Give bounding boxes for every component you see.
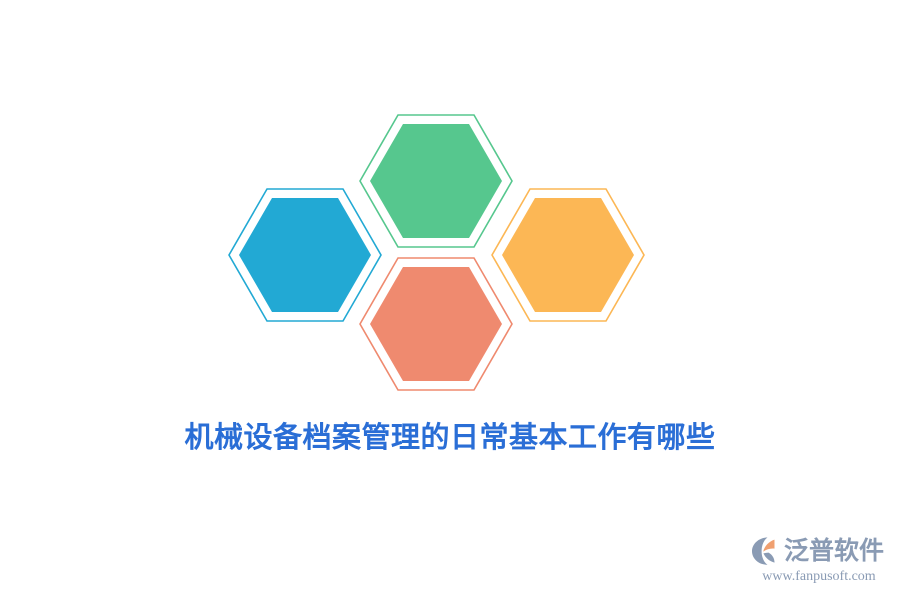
green-hexagon-fill	[370, 124, 502, 238]
salmon-hexagon	[360, 258, 512, 390]
orange-hexagon	[492, 189, 644, 321]
brand-name: 泛普软件	[784, 536, 884, 566]
brand-watermark: 泛普软件 www.fanpusoft.com	[750, 534, 886, 588]
orange-hexagon-fill	[502, 198, 634, 312]
hexagon-cluster-graphic	[0, 0, 900, 430]
page-title: 机械设备档案管理的日常基本工作有哪些	[0, 419, 900, 457]
brand-row: 泛普软件	[750, 534, 884, 568]
brand-url: www.fanpusoft.com	[752, 568, 886, 585]
blue-hexagon-fill	[239, 198, 371, 312]
page-canvas: 机械设备档案管理的日常基本工作有哪些 泛普软件 www.fanpusoft.co…	[0, 0, 900, 600]
hexagon-cluster-svg	[0, 0, 900, 430]
blue-hexagon	[229, 189, 381, 321]
fanpusoft-logo-icon	[750, 536, 782, 566]
salmon-hexagon-fill	[370, 267, 502, 381]
green-hexagon	[360, 115, 512, 247]
